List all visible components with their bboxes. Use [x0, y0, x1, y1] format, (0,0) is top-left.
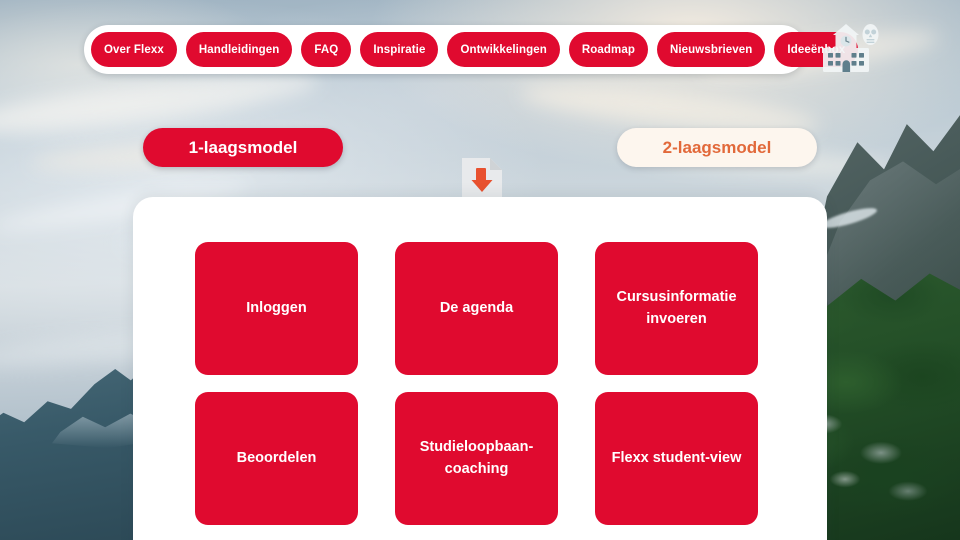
- card-de-agenda[interactable]: De agenda: [395, 242, 558, 375]
- nav-pill-faq[interactable]: FAQ: [301, 32, 351, 67]
- card-studieloopbaancoaching[interactable]: Studieloopbaan- coaching: [395, 392, 558, 525]
- content-panel: Inloggen De agenda Cursusinformatie invo…: [133, 197, 827, 540]
- nav-pill-ontwikkelingen[interactable]: Ontwikkelingen: [447, 32, 559, 67]
- school-building-owl-icon[interactable]: [820, 22, 884, 74]
- nav-pill-roadmap[interactable]: Roadmap: [569, 32, 648, 67]
- nav-pill-over-flexx[interactable]: Over Flexx: [91, 32, 177, 67]
- nav-pill-handleidingen[interactable]: Handleidingen: [186, 32, 293, 67]
- top-navigation-bar: Over Flexx Handleidingen FAQ Inspiratie …: [84, 25, 806, 74]
- nav-pill-nieuwsbrieven[interactable]: Nieuwsbrieven: [657, 32, 765, 67]
- nav-pill-inspiratie[interactable]: Inspiratie: [360, 32, 438, 67]
- card-grid: Inloggen De agenda Cursusinformatie invo…: [195, 242, 758, 525]
- card-cursusinformatie-invoeren[interactable]: Cursusinformatie invoeren: [595, 242, 758, 375]
- card-inloggen[interactable]: Inloggen: [195, 242, 358, 375]
- card-flexx-student-view[interactable]: Flexx student-view: [595, 392, 758, 525]
- tab-1-laagsmodel[interactable]: 1-laagsmodel: [143, 128, 343, 167]
- card-beoordelen[interactable]: Beoordelen: [195, 392, 358, 525]
- tab-2-laagsmodel[interactable]: 2-laagsmodel: [617, 128, 817, 167]
- page-root: Over Flexx Handleidingen FAQ Inspiratie …: [0, 0, 960, 540]
